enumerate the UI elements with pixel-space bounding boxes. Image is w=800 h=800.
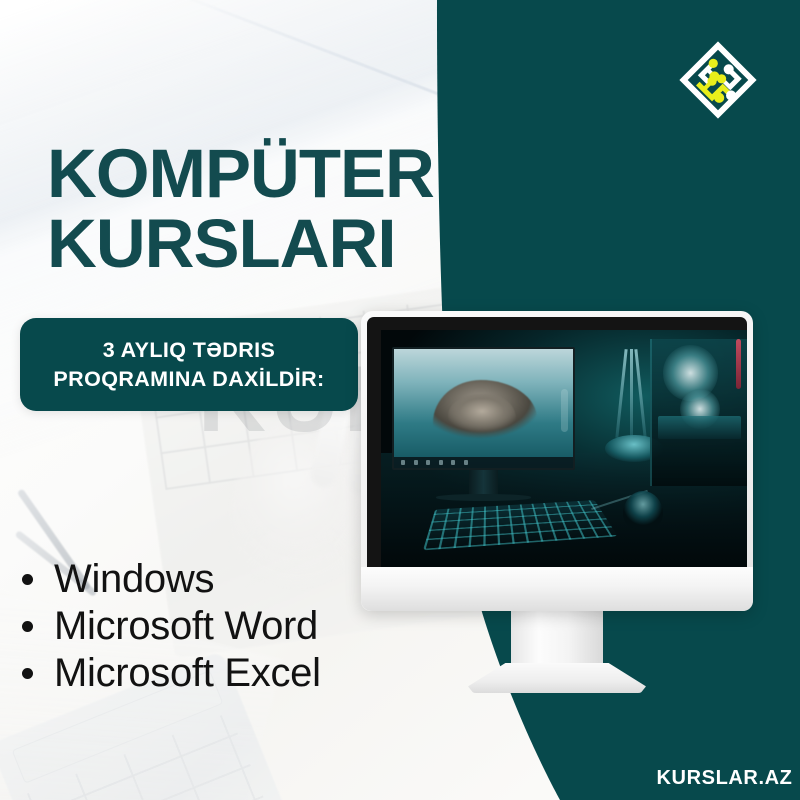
screen-lamp-arm-right [634,349,646,438]
screen-wallpaper-taskbar [394,457,573,468]
imac-computer-image [361,311,753,611]
course-list: Windows Microsoft Word Microsoft Excel [22,556,321,698]
screen-monitor-bezel [392,347,575,470]
poster-canvas: KURS KOMPÜTER KURSLARI 3 AYLIQ TƏDRIS [0,0,800,800]
screen-lamp-arm-left [616,349,628,438]
course-list-label: Windows [54,556,214,603]
screen-gaming-mouse [623,491,663,529]
screen-pc-gpu [658,416,742,440]
screen-monitor-base [436,494,531,500]
bullet-dot-icon [22,668,33,679]
bullet-dot-icon [22,621,33,632]
screen-wallpaper-island-highlight [448,394,516,437]
bullet-dot-icon [22,574,33,585]
program-badge: 3 AYLIQ TƏDRIS PROQRAMINA DAXİLDİR: [20,318,358,411]
screen-wallpaper-sidebar [561,389,568,432]
screen-monitor-stand [469,470,498,497]
program-badge-line-2: PROQRAMINA DAXİLDİR: [53,365,324,393]
list-item: Microsoft Excel [22,650,321,697]
screen-dell-monitor [392,347,575,470]
imac-screen [381,330,747,567]
list-item: Microsoft Word [22,603,321,650]
course-list-label: Microsoft Excel [54,650,321,697]
imac-frame [361,311,753,611]
screen-lamp-arm-center [630,349,633,438]
circuit-diamond-logo-icon [676,38,760,122]
list-item: Windows [22,556,321,603]
page-title-line-2: KURSLARI [47,211,527,277]
imac-bezel [367,317,747,567]
site-url-label: KURSLAR.AZ [657,767,793,790]
page-title: KOMPÜTER KURSLARI [47,141,527,276]
screen-scene-gaming-desk [381,330,747,567]
site-url-badge: KURSLAR.AZ [649,757,800,800]
imac-chin [361,567,753,611]
page-title-line-1: KOMPÜTER [47,141,527,207]
screen-pc-case [650,339,747,486]
screen-pc-cable [736,339,741,389]
course-list-label: Microsoft Word [54,603,318,650]
program-badge-line-1: 3 AYLIQ TƏDRIS [103,336,276,364]
